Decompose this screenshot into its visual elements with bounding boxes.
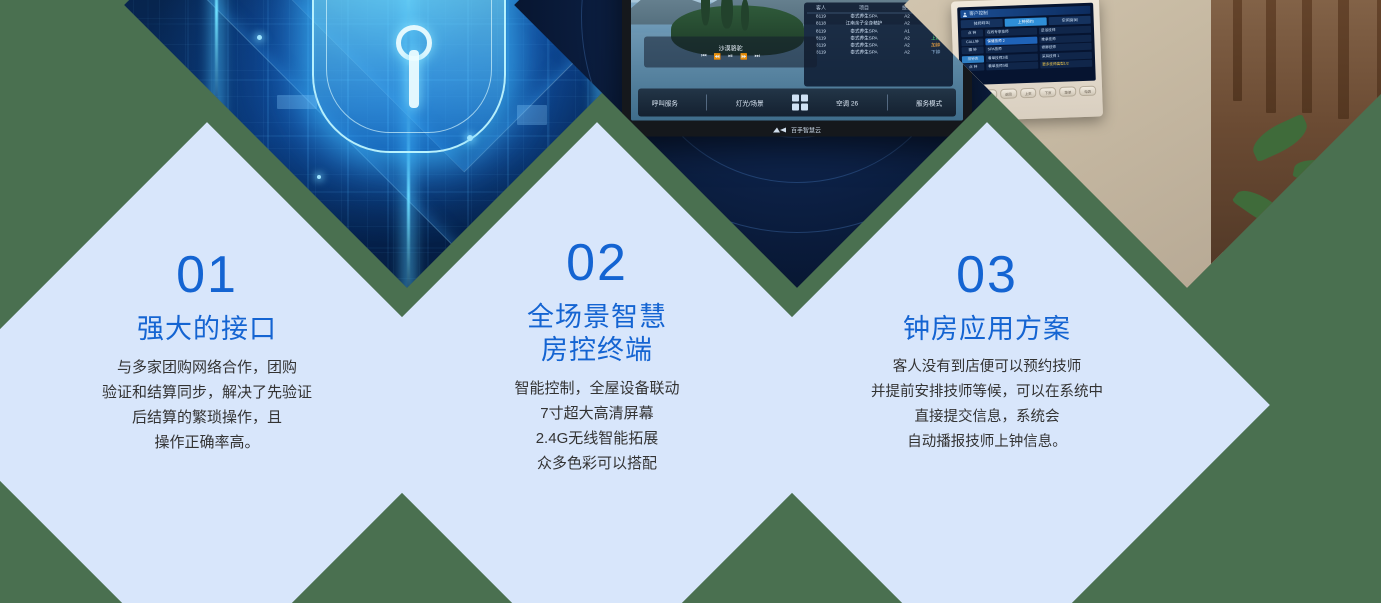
wall-panel-list-item[interactable]: 看单技师3组	[986, 62, 1038, 71]
panel-heading: 强大的接口	[137, 313, 277, 346]
desc-line: 众多色彩可以搭配	[514, 451, 679, 476]
wall-panel-tab[interactable]: 空闲房间	[1049, 16, 1091, 25]
wall-panel-list-item[interactable]: 修脚技师	[1040, 43, 1092, 52]
desc-line: 自动播报技师上钟信息。	[871, 430, 1103, 455]
wall-panel-left-list[interactable]: 在线专享技师保健技师 2SPA技师看单技师2组看单技师3组	[985, 28, 1038, 71]
wall-panel-list-item[interactable]: SPA技师	[986, 45, 1038, 54]
media-title: 沙漠骆驼	[719, 43, 743, 52]
media-controls[interactable]: ⏮⏪⏯⏩⏭	[701, 53, 760, 60]
wall-panel-side-key[interactable]: 圈 钟	[962, 47, 984, 55]
chip-block	[517, 105, 547, 125]
cell-tech: A2	[893, 50, 922, 56]
wallpaper-tree	[701, 0, 710, 25]
panel-heading-line: 强大的接口	[137, 313, 277, 346]
light-beam	[215, 0, 218, 127]
cell-guest: 8119	[807, 14, 836, 20]
plant	[1247, 114, 1312, 163]
divider	[887, 94, 888, 110]
desc-line: 2.4G无线智能拓展	[514, 426, 679, 451]
table-row: 8119泰式养生SPAA2上钟	[807, 35, 950, 42]
col-item: 项目	[835, 4, 892, 11]
desc-line: 与多家团购网络合作，团购	[102, 355, 312, 380]
apps-grid-icon[interactable]	[792, 95, 808, 110]
cell-status: 下钟	[921, 50, 950, 56]
cell-guest: 8119	[807, 28, 836, 34]
cell-item: 泰式养生SPA	[835, 42, 892, 48]
wall-panel-button[interactable]: 返回	[1000, 88, 1017, 99]
wall-panel-right-list[interactable]: 足浴技师推拿技师修脚技师采耳技师 1更多技师类型1/2	[1039, 26, 1092, 69]
wood-slat	[1266, 0, 1276, 113]
glow-dot	[257, 35, 262, 40]
desc-line: 并提前安排技师等候，可以在系统中	[871, 380, 1103, 405]
air-conditioner-button[interactable]: 空调 26	[836, 97, 858, 107]
table-row: 8119泰式养生SPAA2加钟	[807, 42, 950, 49]
tablet-screen[interactable]: 22:35 SPA6房 25°C 11/24 客人 项目 技师	[631, 0, 963, 121]
cell-item: 江南亲子全身精护	[835, 21, 892, 27]
room-interior	[1211, 0, 1381, 288]
panel-number: 03	[956, 247, 1018, 303]
media-control-icon[interactable]: ⏯	[728, 53, 733, 60]
wall-panel-side-key[interactable]: 点 钟	[961, 30, 983, 38]
wall-panel-side-key[interactable]: CALL钟	[961, 38, 983, 46]
plant	[1337, 205, 1381, 236]
panel-description: 智能控制，全屋设备联动 7寸超大高清屏幕 2.4G无线智能拓展 众多色彩可以搭配	[514, 376, 679, 476]
desc-line: 智能控制，全屋设备联动	[514, 376, 679, 401]
wall-panel-button[interactable]: 菜单	[1059, 86, 1076, 97]
wallpaper-tree	[741, 0, 749, 30]
shield-icon	[312, 0, 506, 153]
wood-slat	[1233, 0, 1242, 101]
cell-guest: 8118	[807, 21, 836, 27]
media-control-icon[interactable]: ⏪	[714, 53, 721, 60]
wall-panel-list-item[interactable]: 在线专享技师	[985, 28, 1037, 37]
wall-panel-list-item[interactable]: 推拿技师	[1039, 34, 1091, 43]
cell-tech: A1	[893, 28, 922, 34]
plant	[1292, 154, 1369, 193]
panel-heading-line: 房控终端	[527, 334, 667, 367]
panel-heading: 全场景智慧 房控终端	[527, 301, 667, 367]
wall-panel-list-item[interactable]: 保健技师 2	[985, 36, 1037, 45]
divider	[706, 94, 707, 110]
brand-logo-icon	[773, 126, 787, 133]
infographic-stage: CSIJBO 22:35 SPA6房	[0, 0, 1381, 603]
media-player[interactable]: 沙漠骆驼 ⏮⏪⏯⏩⏭	[644, 36, 817, 67]
panel-heading: 钟房应用方案	[903, 313, 1071, 346]
glow-dot	[317, 175, 321, 179]
media-control-icon[interactable]: ⏩	[740, 53, 747, 60]
panel-heading-line: 全场景智慧	[527, 301, 667, 334]
service-mode-button[interactable]: 服务模式	[916, 97, 942, 107]
desc-line: 7寸超大高清屏幕	[514, 401, 679, 426]
wall-panel-list-item[interactable]: 看单技师2组	[986, 53, 1038, 62]
wall-panel-side-keys[interactable]: 点 钟CALL钟圈 钟排钟表点 钟	[961, 30, 984, 72]
chip-block	[277, 95, 317, 109]
cell-item: 泰式养生SPA	[835, 50, 892, 56]
wood-slat	[1302, 0, 1312, 113]
table-row: 8119泰式养生SPAA2下钟	[807, 49, 950, 56]
wall-panel-screen[interactable]: 客户控制 技师呼叫上钟预约空闲房间 点 钟CALL钟圈 钟排钟表点 钟 在线专享…	[957, 3, 1096, 86]
cell-item: 泰式养生SPA	[835, 14, 892, 20]
media-control-icon[interactable]: ⏮	[701, 53, 706, 60]
cell-item: 泰式养生SPA	[835, 28, 892, 34]
lock-icon	[396, 25, 432, 61]
desc-line: 后结算的繁琐操作，且	[102, 405, 312, 430]
lighting-scene-button[interactable]: 灯光/场景	[736, 97, 764, 107]
panel-number: 02	[566, 235, 628, 291]
user-icon	[962, 12, 967, 17]
wall-panel-tab[interactable]: 技师呼叫	[961, 19, 1003, 28]
wall-panel-list-item[interactable]: 采耳技师 1	[1040, 51, 1092, 60]
wall-panel-button[interactable]: 下页	[1039, 87, 1056, 98]
plant	[1232, 183, 1290, 233]
call-service-button[interactable]: 呼叫服务	[652, 97, 678, 107]
cell-item: 泰式养生SPA	[835, 35, 892, 41]
desc-line: 客人没有到店便可以预约技师	[871, 355, 1103, 380]
wall-panel-list-item[interactable]: 足浴技师	[1039, 26, 1091, 35]
desc-line: 直接提交信息，系统会	[871, 405, 1103, 430]
brand-name: 百手智慧云	[791, 125, 821, 134]
media-control-icon[interactable]: ⏭	[754, 53, 759, 60]
wall-panel-side-key[interactable]: 排钟表	[962, 55, 984, 63]
wall-panel-button[interactable]: 电源	[1079, 86, 1096, 97]
wall-panel-button[interactable]: 上页	[1020, 88, 1037, 99]
col-guest: 客人	[807, 4, 836, 11]
panel-number: 01	[176, 247, 238, 303]
terminal-bottom-bar[interactable]: 呼叫服务 灯光/场景 空调 26 服务模式	[638, 88, 957, 117]
wood-slat	[1377, 0, 1381, 125]
tablet-footer-brand: 百手智慧云	[622, 125, 972, 134]
wood-slat	[1338, 0, 1349, 119]
cell-tech: A2	[893, 21, 922, 27]
wall-panel-title: 客户控制	[969, 10, 988, 17]
desc-line: 操作正确率高。	[102, 430, 312, 455]
wall-panel-list-item[interactable]: 更多技师类型1/2	[1040, 60, 1092, 69]
wallpaper-tree	[721, 0, 733, 29]
glow-dot	[467, 135, 473, 141]
cell-tech: A2	[893, 42, 922, 48]
panel-description: 客人没有到店便可以预约技师 并提前安排技师等候，可以在系统中 直接提交信息，系统…	[871, 355, 1103, 455]
cell-tech: A2	[893, 35, 922, 41]
panel-heading-line: 钟房应用方案	[903, 313, 1071, 346]
panel-description: 与多家团购网络合作，团购 验证和结算同步，解决了先验证 后结算的繁琐操作，且 操…	[102, 355, 312, 455]
wall-panel-tab[interactable]: 上钟预约	[1005, 17, 1047, 26]
desc-line: 验证和结算同步，解决了先验证	[102, 380, 312, 405]
